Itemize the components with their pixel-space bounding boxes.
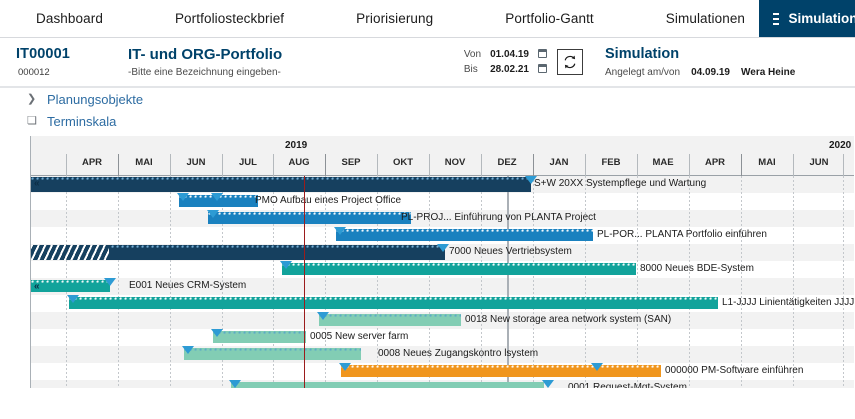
- tab-simulation-label: Simulation: [788, 11, 855, 26]
- portfolio-id-block: IT00001 000012: [16, 38, 108, 86]
- tab-priorisierung[interactable]: Priorisierung: [342, 11, 447, 26]
- refresh-sync-button[interactable]: [557, 49, 583, 75]
- calendar-icon-von[interactable]: [538, 49, 547, 58]
- gantt-milestone-marker[interactable]: [437, 244, 449, 252]
- gantt-month-label: MAE: [637, 157, 689, 168]
- section-planungsobjekte-label: Planungsobjekte: [47, 92, 143, 107]
- simulation-title: Simulation: [605, 46, 841, 62]
- top-navigation-bar: Dashboard Portfoliosteckbrief Priorisier…: [0, 0, 855, 38]
- gantt-tick: [741, 154, 742, 176]
- gantt-month-label: APR: [689, 157, 741, 168]
- gantt-month-label: MAI: [118, 157, 170, 168]
- gantt-bar-label: 0005 New server farm: [310, 330, 408, 344]
- gantt-bar[interactable]: [208, 212, 411, 224]
- gantt-month-label: NOV: [429, 157, 481, 168]
- gantt-bar-label: E001 Neues CRM-System: [129, 279, 246, 293]
- von-label: Von: [464, 49, 481, 60]
- gantt-bar-label: PL-POR... PLANTA Portfolio einführen: [597, 228, 767, 242]
- gantt-bar-progress-dots: [208, 212, 411, 216]
- page-title: IT- und ORG-Portfolio: [128, 46, 282, 63]
- gantt-tick: [118, 154, 119, 176]
- tab-simulationen[interactable]: Simulationen: [652, 11, 759, 26]
- gantt-row[interactable]: PL-PROJ... Einführung von PLANTA Project: [31, 210, 854, 227]
- gantt-year-label: 2019: [285, 140, 307, 151]
- gantt-month-label: JUN: [170, 157, 222, 168]
- gantt-tick: [793, 154, 794, 176]
- gantt-bar[interactable]: [31, 245, 445, 260]
- gantt-row[interactable]: 7000 Neues Vertriebsystem: [31, 244, 854, 261]
- gantt-bar-label: 000000 PM-Software einführen: [665, 364, 803, 378]
- gantt-row[interactable]: 0008 Neues Zugangskontro lsystem: [31, 346, 854, 363]
- tab-simulation-active[interactable]: Simulation ✕: [759, 0, 855, 37]
- gantt-month-label: SEP: [325, 157, 377, 168]
- gantt-row[interactable]: PMO Aufbau eines Project Office: [31, 193, 854, 210]
- gantt-bar[interactable]: [341, 365, 661, 377]
- gantt-bar-progress-dots: [341, 365, 661, 369]
- gantt-milestone-marker[interactable]: [280, 261, 292, 269]
- created-label: Angelegt am/von: [605, 67, 680, 78]
- gantt-milestone-marker[interactable]: [211, 329, 223, 337]
- gantt-month-label: JAN: [533, 157, 585, 168]
- gantt-month-label: AUG: [273, 157, 325, 168]
- gantt-tick: [637, 154, 638, 176]
- portfolio-title-block: IT- und ORG-Portfolio -Bitte eine Bezeic…: [128, 38, 282, 86]
- gantt-bar-progress-dots: [282, 263, 636, 267]
- created-date: 04.09.19: [691, 67, 730, 78]
- gantt-milestone-marker[interactable]: [591, 363, 603, 371]
- gantt-milestone-marker[interactable]: [317, 312, 329, 320]
- gantt-bar-progress-dots: [31, 177, 531, 181]
- bis-value[interactable]: 28.02.21: [490, 64, 529, 75]
- gantt-tick: [222, 154, 223, 176]
- gantt-bar[interactable]: [184, 348, 361, 360]
- tab-dashboard[interactable]: Dashboard: [22, 11, 117, 26]
- gantt-milestone-marker[interactable]: [182, 346, 194, 354]
- gantt-bar[interactable]: [336, 229, 593, 241]
- scroll-back-icon[interactable]: «: [34, 281, 39, 293]
- nav-tab-list: Dashboard Portfoliosteckbrief Priorisier…: [0, 0, 759, 37]
- gantt-row[interactable]: PL-POR... PLANTA Portfolio einführen: [31, 227, 854, 244]
- gantt-row[interactable]: 000000 PM-Software einführen: [31, 363, 854, 380]
- gantt-tick: [377, 154, 378, 176]
- gantt-row[interactable]: 0001 Request-Mgt-System: [31, 380, 854, 388]
- gantt-row[interactable]: 0005 New server farm: [31, 329, 854, 346]
- gantt-month-label: JUL: [843, 157, 854, 168]
- gantt-tick: [429, 154, 430, 176]
- gantt-tick: [533, 154, 534, 176]
- gantt-milestone-marker[interactable]: [104, 278, 116, 286]
- hamburger-icon[interactable]: [773, 10, 779, 28]
- gantt-month-label: DEZ: [481, 157, 533, 168]
- bis-label: Bis: [464, 64, 481, 75]
- gantt-bar-label: PMO Aufbau eines Project Office: [255, 194, 401, 208]
- portfolio-sub-id: 000012: [16, 67, 108, 78]
- gantt-month-label: JUL: [222, 157, 274, 168]
- gantt-milestone-marker[interactable]: [334, 227, 346, 235]
- gantt-bar[interactable]: [319, 314, 461, 326]
- gantt-tick: [585, 154, 586, 176]
- section-planungsobjekte[interactable]: ❯ Planungsobjekte: [0, 88, 855, 110]
- gantt-tick: [273, 154, 274, 176]
- gantt-milestone-marker[interactable]: [542, 380, 554, 388]
- section-terminskala-label: Terminskala: [47, 114, 116, 129]
- gantt-tick: [689, 154, 690, 176]
- gantt-bar-label: PL-PROJ... Einführung von PLANTA Project: [401, 211, 596, 225]
- gantt-tick: [481, 154, 482, 176]
- gantt-tick: [325, 154, 326, 176]
- gantt-bar-hatch: [31, 245, 109, 260]
- record-header-panel: IT00001 000012 IT- und ORG-Portfolio -Bi…: [0, 38, 855, 88]
- simulation-info-block: Simulation Angelegt am/von 04.09.19 Wera…: [605, 38, 841, 86]
- gantt-row[interactable]: «E001 Neues CRM-System: [31, 278, 854, 295]
- gantt-bar-label: S+W 20XX Systempflege und Wartung: [534, 177, 706, 191]
- section-terminskala[interactable]: ❏ Terminskala: [0, 110, 855, 132]
- gantt-milestone-marker[interactable]: [211, 193, 223, 201]
- von-value[interactable]: 01.04.19: [490, 49, 529, 60]
- gantt-bar-label: 7000 Neues Vertriebsystem: [449, 245, 572, 259]
- gantt-bar-label: 0001 Request-Mgt-System: [568, 381, 687, 388]
- gantt-milestone-marker[interactable]: [207, 210, 219, 218]
- gantt-milestone-marker[interactable]: [339, 363, 351, 371]
- gantt-row[interactable]: L1-JJJJ Linientätigkeiten JJJJ: [31, 295, 854, 312]
- gantt-bar[interactable]: «: [31, 280, 110, 292]
- tab-portfoliosteckbrief[interactable]: Portfoliosteckbrief: [161, 11, 298, 26]
- tab-portfolio-gantt[interactable]: Portfolio-Gantt: [491, 11, 608, 26]
- gantt-bar[interactable]: [69, 297, 718, 309]
- gantt-year-label: 2020: [829, 140, 851, 151]
- gantt-bar-progress-dots: [336, 229, 593, 233]
- gantt-milestone-marker[interactable]: [67, 295, 79, 303]
- gantt-bar[interactable]: «: [31, 177, 531, 192]
- gantt-chart[interactable]: 20192020APRMAIJUNJULAUGSEPOKTNOVDEZJANFE…: [30, 136, 854, 388]
- gantt-bar[interactable]: [282, 263, 636, 275]
- chevron-right-icon[interactable]: ❯: [27, 94, 34, 105]
- gantt-month-label: OKT: [377, 157, 429, 168]
- scroll-back-icon[interactable]: «: [34, 178, 39, 190]
- gantt-row[interactable]: 0018 New storage area network system (SA…: [31, 312, 854, 329]
- gantt-bar-progress-dots: [31, 280, 110, 284]
- portfolio-id: IT00001: [16, 46, 108, 62]
- gantt-plot-area[interactable]: «S+W 20XX Systempflege und WartungPMO Au…: [31, 176, 854, 388]
- gantt-bar[interactable]: [231, 382, 544, 388]
- gantt-bar-progress-dots: [213, 331, 306, 335]
- calendar-icon-bis[interactable]: [538, 64, 547, 73]
- gantt-bar-progress-dots: [69, 297, 718, 301]
- date-range-fields: Von 01.04.19 Bis 28.02.21: [464, 38, 547, 86]
- gantt-month-label: JUN: [793, 157, 845, 168]
- chevron-down-icon[interactable]: ❏: [27, 116, 34, 127]
- gantt-row[interactable]: «S+W 20XX Systempflege und Wartung: [31, 176, 854, 193]
- gantt-tick: [170, 154, 171, 176]
- gantt-month-label: FEB: [585, 157, 637, 168]
- gantt-month-label: APR: [66, 157, 118, 168]
- gantt-tick: [843, 154, 844, 176]
- gantt-bar-label: 0008 Neues Zugangskontro lsystem: [378, 347, 538, 361]
- gantt-row[interactable]: 8000 Neues BDE-System: [31, 261, 854, 278]
- gantt-tick: [66, 154, 67, 176]
- gantt-milestone-marker[interactable]: [229, 380, 241, 388]
- gantt-timeline-header: 20192020APRMAIJUNJULAUGSEPOKTNOVDEZJANFE…: [31, 136, 854, 176]
- gantt-milestone-marker[interactable]: [177, 193, 189, 201]
- refresh-sync-icon: [562, 54, 578, 70]
- today-marker-line: [304, 176, 305, 388]
- simulation-meta: Angelegt am/von 04.09.19 Wera Heine: [605, 67, 841, 78]
- gantt-bar-progress-dots: [319, 314, 461, 318]
- gantt-bar[interactable]: [213, 331, 306, 343]
- gantt-bar-progress-dots: [184, 348, 361, 352]
- gantt-bar-label: 8000 Neues BDE-System: [640, 262, 754, 276]
- gantt-bar-label: L1-JJJJ Linientätigkeiten JJJJ: [722, 296, 854, 310]
- gantt-month-label: MAI: [741, 157, 793, 168]
- portfolio-description[interactable]: -Bitte eine Bezeichnung eingeben-: [128, 67, 282, 78]
- gantt-bar-label: 0018 New storage area network system (SA…: [465, 313, 671, 327]
- created-by: Wera Heine: [741, 67, 795, 78]
